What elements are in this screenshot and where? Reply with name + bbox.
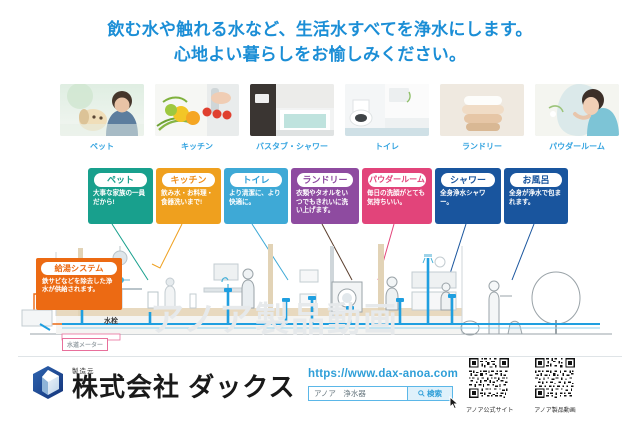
callout-bath[interactable]: お風呂 全身が浄水で包まれます。 [504, 168, 568, 224]
faucet-label: 水栓 [104, 316, 118, 326]
photo-label-laundry: ランドリー [440, 141, 524, 152]
photo-label-kitchen: キッチン [155, 141, 239, 152]
callout-body-kitchen: 飲み水・お料理・食器洗いまで! [161, 190, 216, 207]
qr-label-product-video: アノア製品動画 [532, 405, 578, 414]
website-url[interactable]: https://www.dax-anoa.com [308, 368, 458, 380]
callout-body-laundry: 衣類やタオルをいつでもきれいに洗い上げます。 [296, 190, 354, 216]
callout-body-pet: 大事な家族の一員だから! [93, 190, 148, 207]
callout-pet[interactable]: ペット 大事な家族の一員だから! [88, 168, 153, 224]
photo-kitchen [155, 84, 239, 136]
photo-powder-room [535, 84, 619, 136]
callout-title-kitchen: キッチン [162, 173, 215, 187]
callout-laundry[interactable]: ランドリー 衣類やタオルをいつでもきれいに洗い上げます。 [291, 168, 359, 224]
callout-title-toilet: トイレ [230, 173, 282, 187]
callout-body-bath: 全身が浄水で包まれます。 [509, 190, 563, 207]
callout-body-water-heater: 鉄サビなどを除去した浄水が供給されます。 [42, 278, 117, 295]
callout-water-heater-system[interactable]: 給湯システム 鉄サビなどを除去した浄水が供給されます。 [36, 258, 122, 310]
photo-cell-toilet: トイレ [345, 84, 429, 152]
search-input[interactable]: アノア 浄水器 [309, 387, 407, 400]
search-button[interactable]: 検索 [407, 387, 452, 400]
callout-toilet[interactable]: トイレ より清潔に、より快適に。 [224, 168, 288, 224]
callout-body-powder-room: 毎日の洗顔がとても気持ちいい。 [367, 190, 427, 207]
search-bar[interactable]: アノア 浄水器 検索 [308, 386, 453, 401]
search-button-label: 検索 [427, 387, 442, 400]
qr-code-icon [469, 358, 509, 398]
photo-pet [60, 84, 144, 136]
qr-product-video[interactable]: アノア製品動画 [532, 358, 578, 414]
photo-toilet [345, 84, 429, 136]
footer: 製造元 株式会社 ダックス https://www.dax-anoa.com ア… [0, 356, 640, 422]
page-headline: 飲む水や触れる水など、生活水すべてを浄水にします。 心地よい暮らしをお愉しみくだ… [0, 18, 640, 67]
photo-strip: ペット キッチン [0, 84, 640, 156]
search-icon [418, 390, 425, 397]
photo-cell-powder-room: パウダールーム [535, 84, 619, 152]
callout-shower[interactable]: シャワー 全身浄水シャワー。 [435, 168, 501, 224]
mouse-cursor-icon [449, 396, 461, 410]
infographic-page: 飲む水や触れる水など、生活水すべてを浄水にします。 心地よい暮らしをお愉しみくだ… [0, 0, 640, 422]
qr-code-icon [535, 358, 575, 398]
photo-label-pet: ペット [60, 141, 144, 152]
callout-title-shower: シャワー [441, 173, 495, 187]
photo-bath-shower [250, 84, 334, 136]
photo-cell-kitchen: キッチン [155, 84, 239, 152]
callout-title-laundry: ランドリー [297, 173, 353, 187]
callout-row: ペット 大事な家族の一員だから! キッチン 飲み水・お料理・食器洗いまで! トイ… [0, 168, 640, 230]
photo-cell-bath-shower: バスタブ・シャワー [250, 84, 334, 152]
callout-title-powder-room: パウダールーム [368, 173, 426, 187]
qr-label-official-site: アノア公式サイト [466, 405, 512, 414]
callout-title-bath: お風呂 [510, 173, 562, 187]
callout-body-toilet: より清潔に、より快適に。 [229, 190, 283, 207]
dax-cube-logo-icon [30, 364, 66, 400]
footer-divider [18, 356, 622, 357]
callout-powder-room[interactable]: パウダールーム 毎日の洗顔がとても気持ちいい。 [362, 168, 432, 224]
photo-label-bath-shower: バスタブ・シャワー [250, 141, 334, 152]
callout-kitchen[interactable]: キッチン 飲み水・お料理・食器洗いまで! [156, 168, 221, 224]
photo-cell-pet: ペット [60, 84, 144, 152]
water-meter-label: 水道メーター [62, 338, 108, 351]
qr-official-site[interactable]: アノア公式サイト [466, 358, 512, 414]
company-name-block: 製造元 株式会社 ダックス [72, 365, 295, 400]
callout-body-shower: 全身浄水シャワー。 [440, 190, 496, 207]
headline-line-2: 心地よい暮らしをお愉しみください。 [0, 43, 640, 68]
callout-title-pet: ペット [94, 173, 147, 187]
qr-code-group: アノア公式サイト [466, 358, 578, 414]
company-logo-block: 製造元 株式会社 ダックス [30, 364, 295, 400]
headline-line-1: 飲む水や触れる水など、生活水すべてを浄水にします。 [0, 18, 640, 43]
company-brand-name: 株式会社 ダックス [72, 374, 295, 400]
callout-title-water-heater: 給湯システム [41, 262, 117, 275]
photo-laundry [440, 84, 524, 136]
photo-cell-laundry: ランドリー [440, 84, 524, 152]
photo-label-powder-room: パウダールーム [535, 141, 619, 152]
photo-label-toilet: トイレ [345, 141, 429, 152]
